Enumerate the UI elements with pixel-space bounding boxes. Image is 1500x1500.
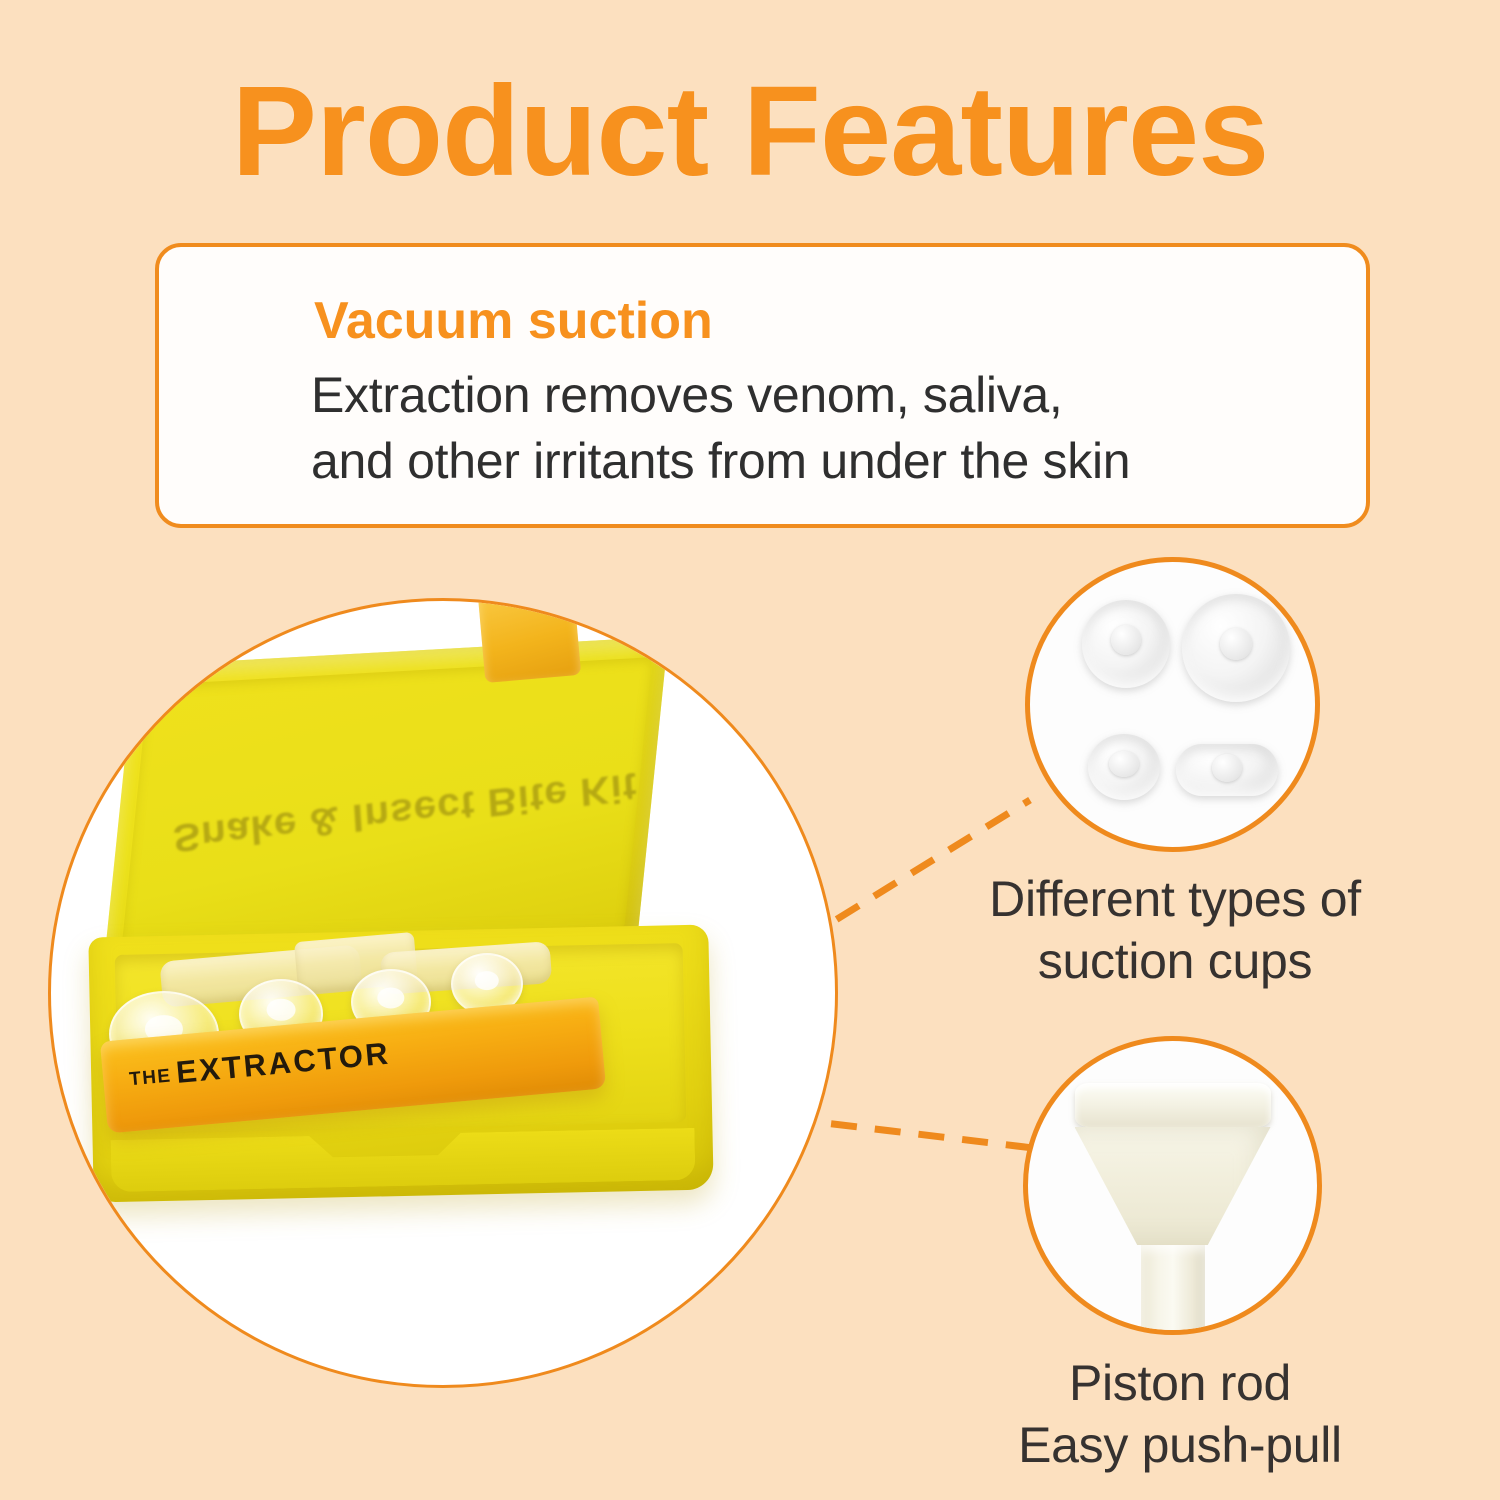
product-photo-circle: Snake & Insect Bite Kit THEEXTRACTOR [48,598,838,1388]
caption-suction-cups-line-2: suction cups [905,930,1445,992]
piston-flare [1075,1127,1271,1245]
detail-circle-suction-cups [1025,557,1320,852]
detail-suction-cup-large-round [1082,600,1170,688]
case-base-lip [111,1128,696,1192]
detail-suction-cup-oval [1176,744,1278,796]
caption-suction-cups-line-1: Different types of [905,868,1445,930]
piston-head [1075,1083,1271,1127]
caption-piston-rod-line-2: Easy push-pull [940,1414,1420,1476]
caption-piston-rod-line-1: Piston rod [940,1352,1420,1414]
feature-callout-box: Vacuum suction Extraction removes venom,… [155,243,1370,528]
suction-cup-nub [1212,754,1242,782]
syringe-brand-label: THEEXTRACTOR [128,1036,392,1096]
syringe-brand-name: EXTRACTOR [175,1036,392,1090]
feature-heading: Vacuum suction [314,291,713,351]
piston-rod-illustration [1075,1083,1271,1335]
caption-piston-rod: Piston rod Easy push-pull [940,1352,1420,1476]
case-lid-embossed-text: Snake & Insect Bite Kit [172,766,620,861]
suction-cup-nub [1111,625,1141,655]
page-title: Product Features [0,62,1500,203]
product-illustration: Snake & Insect Bite Kit THEEXTRACTOR [51,601,838,1388]
syringe-plunger-end [477,598,581,683]
case-lid: Snake & Insect Bite Kit [104,636,669,965]
feature-description-line-2: and other irritants from under the skin [311,428,1331,494]
feature-description: Extraction removes venom, saliva, and ot… [311,362,1331,494]
detail-suction-cup-extra-large-round [1182,594,1290,702]
detail-suction-cup-small-round [1088,734,1160,800]
case-lid-inner-face: Snake & Insect Bite Kit [121,657,652,956]
detail-circle-piston-rod [1023,1036,1322,1335]
caption-suction-cups: Different types of suction cups [905,868,1445,992]
feature-description-line-1: Extraction removes venom, saliva, [311,362,1331,428]
suction-cup-nub [1220,628,1252,660]
suction-cup-nub [1109,751,1139,777]
syringe-brand-prefix: THE [128,1066,172,1091]
piston-shaft [1141,1245,1205,1335]
